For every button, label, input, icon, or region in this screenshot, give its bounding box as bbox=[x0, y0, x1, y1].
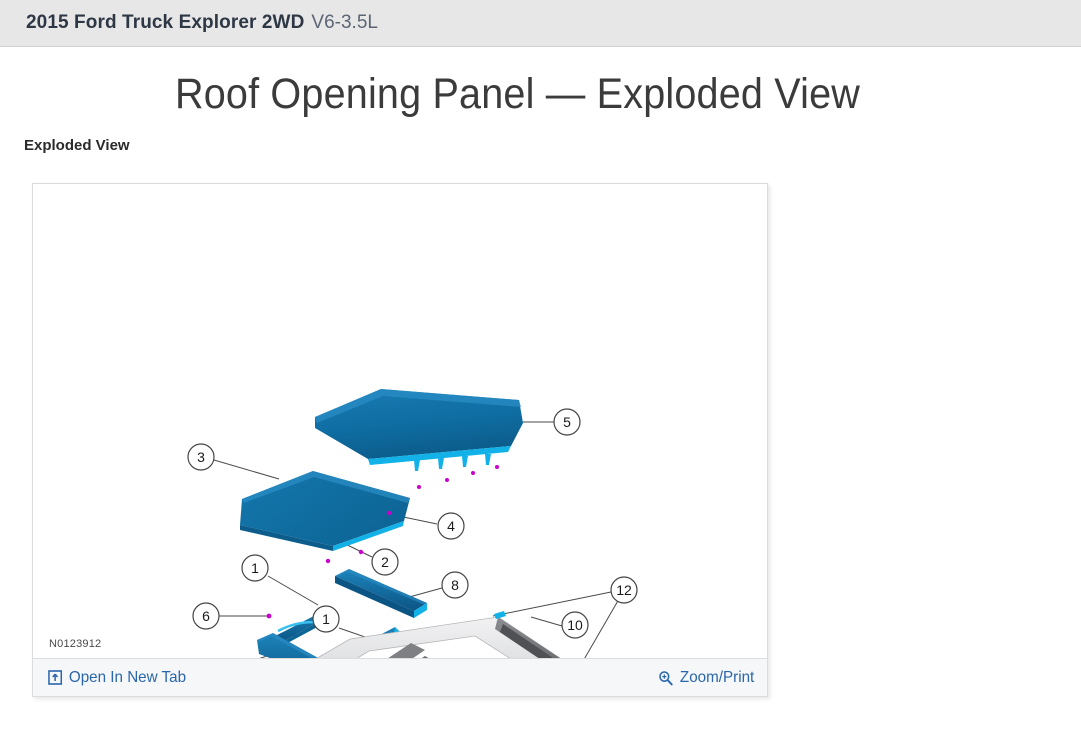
callout-1-lower: 1 bbox=[313, 606, 339, 632]
callout-2: 2 bbox=[372, 549, 398, 575]
part-trim-rail-right bbox=[335, 569, 427, 618]
page-title: Roof Opening Panel — Exploded View bbox=[41, 70, 993, 119]
figure-canvas[interactable]: 5 3 4 2 1 bbox=[33, 184, 767, 658]
svg-text:10: 10 bbox=[567, 617, 583, 633]
svg-text:4: 4 bbox=[447, 518, 455, 534]
callout-4: 4 bbox=[438, 513, 464, 539]
svg-text:12: 12 bbox=[616, 582, 632, 598]
callout-6: 6 bbox=[193, 603, 219, 629]
vehicle-header-bar: 2015 Ford Truck Explorer 2WD V6-3.5L bbox=[0, 0, 1081, 47]
figure-footer-bar: Open In New Tab Zoom/Print bbox=[33, 658, 767, 696]
zoom-print-label: Zoom/Print bbox=[680, 669, 754, 687]
open-in-new-tab-button[interactable]: Open In New Tab bbox=[48, 669, 186, 687]
part-sunshade-panel bbox=[240, 471, 410, 551]
svg-text:8: 8 bbox=[451, 577, 459, 593]
callout-5: 5 bbox=[554, 409, 580, 435]
section-label: Exploded View bbox=[24, 137, 130, 154]
vehicle-name: 2015 Ford Truck Explorer 2WD bbox=[26, 12, 304, 34]
callout-1-upper: 1 bbox=[242, 555, 268, 581]
svg-text:3: 3 bbox=[197, 449, 205, 465]
svg-text:1: 1 bbox=[251, 560, 259, 576]
exploded-view-figure-panel: 5 3 4 2 1 bbox=[32, 183, 768, 697]
open-in-new-tab-label: Open In New Tab bbox=[69, 669, 186, 687]
part-roof-opening-frame bbox=[261, 611, 580, 658]
svg-text:2: 2 bbox=[381, 554, 389, 570]
callout-8: 8 bbox=[442, 572, 468, 598]
open-in-new-tab-icon bbox=[48, 670, 62, 685]
svg-text:5: 5 bbox=[563, 414, 571, 430]
callout-10: 10 bbox=[562, 612, 588, 638]
figure-reference-code: N0123912 bbox=[49, 638, 101, 650]
callout-3: 3 bbox=[188, 444, 214, 470]
zoom-print-button[interactable]: Zoom/Print bbox=[658, 669, 754, 687]
callout-12: 12 bbox=[611, 577, 637, 603]
vehicle-engine: V6-3.5L bbox=[311, 12, 378, 34]
zoom-in-magnifier-icon bbox=[658, 670, 673, 686]
svg-text:1: 1 bbox=[322, 611, 330, 627]
part-roof-glass-panel bbox=[315, 389, 523, 471]
svg-text:6: 6 bbox=[202, 608, 210, 624]
